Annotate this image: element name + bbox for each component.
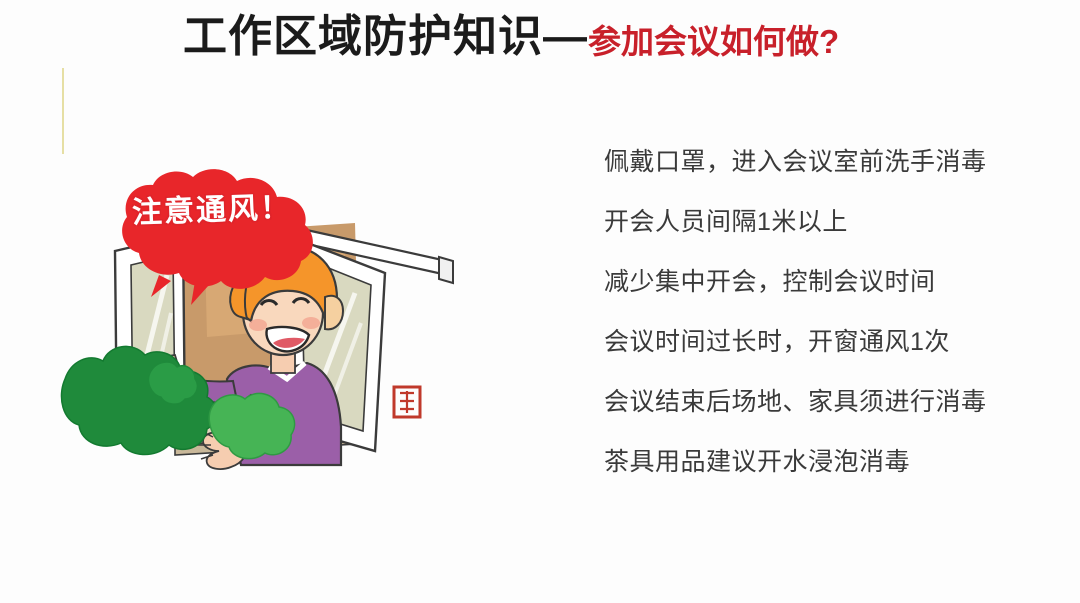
guideline-item: 会议结束后场地、家具须进行消毒: [604, 390, 1024, 415]
accent-rule-divider: [62, 68, 64, 154]
guideline-item: 佩戴口罩，进入会议室前洗手消毒: [604, 150, 1024, 175]
guideline-item: 减少集中开会，控制会议时间: [604, 270, 1024, 295]
artist-seal-icon: [394, 387, 420, 417]
guideline-list: 佩戴口罩，进入会议室前洗手消毒 开会人员间隔1米以上 减少集中开会，控制会议时间…: [604, 150, 1024, 475]
page-title-main: 工作区域防护知识—: [183, 13, 588, 61]
callout-label: 注意通风！: [132, 193, 293, 229]
guideline-item: 开会人员间隔1米以上: [604, 210, 1024, 235]
page-title: 工作区域防护知识— 参加会议如何做?: [183, 13, 839, 61]
guideline-item: 会议时间过长时，开窗通风1次: [604, 330, 1024, 355]
page-title-accent: 参加会议如何做?: [588, 24, 839, 60]
slide-canvas: 工作区域防护知识— 参加会议如何做?: [0, 0, 1080, 603]
guideline-item: 茶具用品建议开水浸泡消毒: [604, 450, 1024, 475]
